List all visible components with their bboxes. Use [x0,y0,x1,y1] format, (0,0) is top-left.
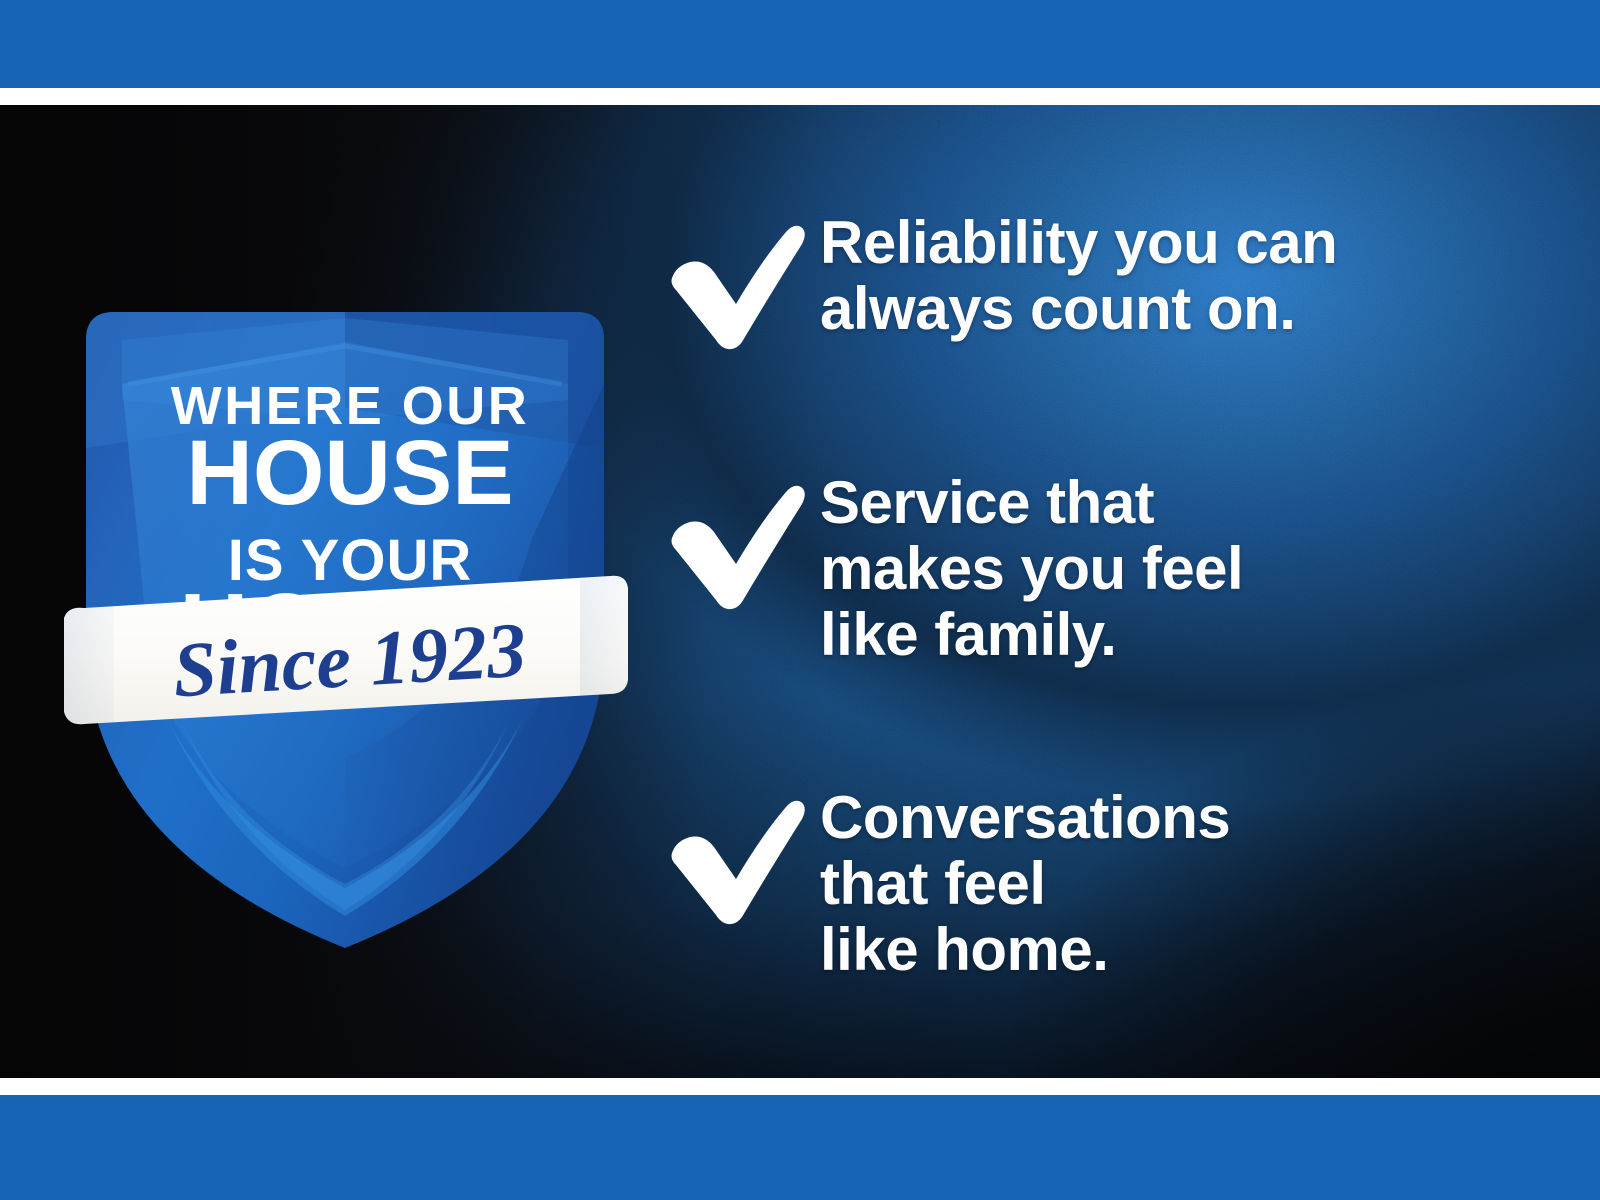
list-item-label: Service that makes you feel like family. [820,470,1540,668]
bottom-white-divider [0,1078,1600,1095]
ribbon-fold-right [580,576,628,696]
list-item: Reliability you can always count on. [660,210,1540,350]
list-item-label: Reliability you can always count on. [820,210,1540,342]
ribbon-fold-left [64,606,114,724]
list-item-label: Conversations that feel like home. [820,785,1540,983]
check-icon [660,785,820,925]
list-item: Conversations that feel like home. [660,785,1540,983]
shield-line-2: HOUSE [186,422,513,524]
list-item: Service that makes you feel like family. [660,470,1540,668]
check-icon [660,210,820,350]
shield-logo: WHERE OUR HOUSE IS YOUR HOUSE Since 1923 [62,288,628,960]
check-icon [660,470,820,610]
top-brand-bar [0,0,1600,88]
top-white-divider [0,88,1600,105]
promo-graphic: WHERE OUR HOUSE IS YOUR HOUSE Since 1923 [0,0,1600,1200]
benefits-list: Reliability you can always count on. Ser… [660,105,1540,1078]
bottom-brand-bar [0,1095,1600,1200]
